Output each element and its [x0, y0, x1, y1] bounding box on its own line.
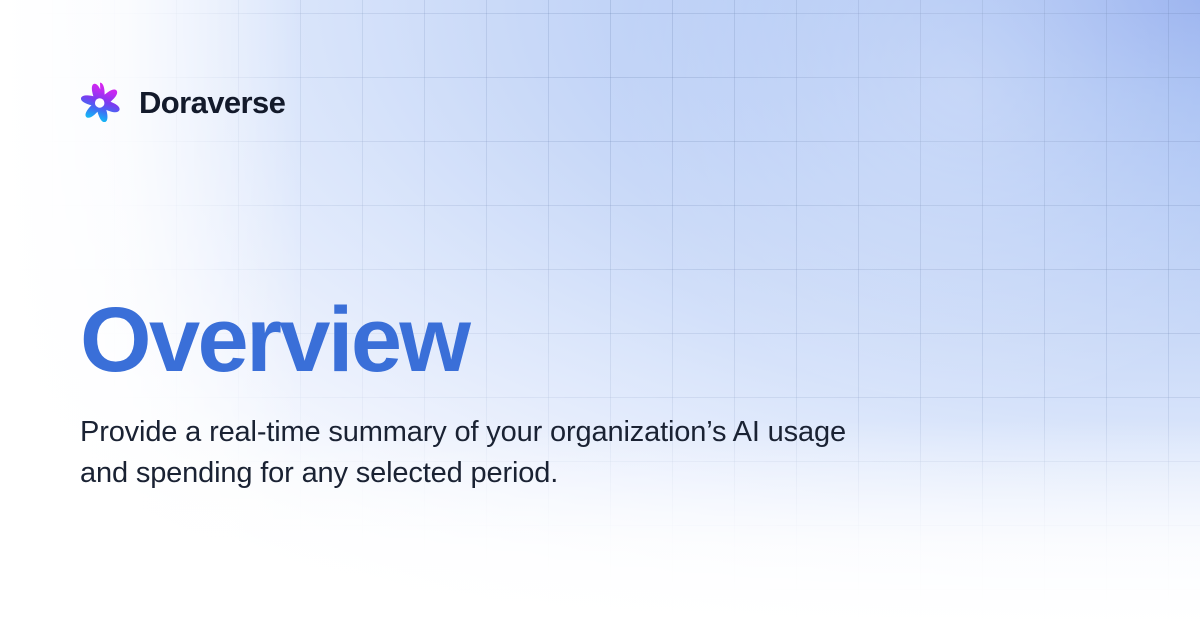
brand-lockup[interactable]: Doraverse	[80, 82, 285, 122]
hero-content: Overview Provide a real-time summary of …	[80, 296, 900, 493]
page-subtitle: Provide a real-time summary of your orga…	[80, 412, 870, 493]
page-title: Overview	[80, 296, 900, 384]
doraverse-star-burst-icon	[80, 82, 120, 122]
hero-banner: Doraverse Overview Provide a real-time s…	[0, 0, 1200, 630]
brand-name: Doraverse	[139, 87, 285, 118]
